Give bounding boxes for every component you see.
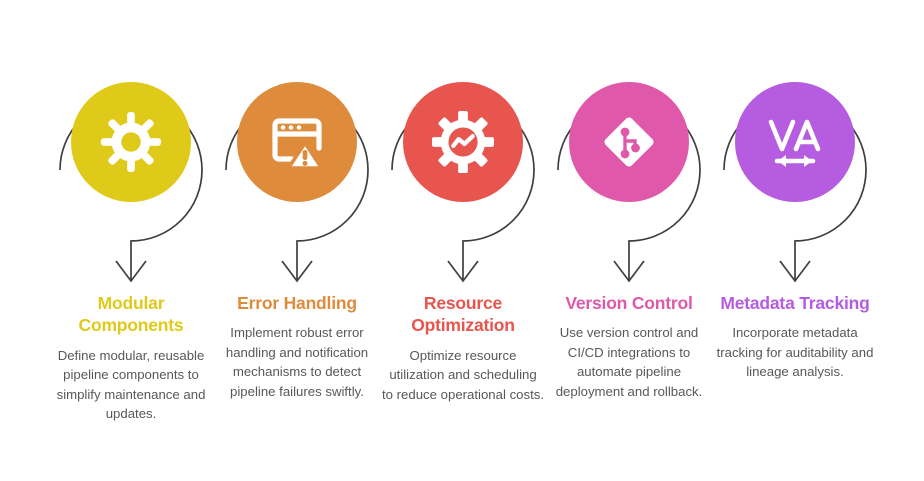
text-block-metadata-tracking: Metadata Tracking Incorporate metadata t… xyxy=(710,292,880,382)
icon-disc-resource-optimization xyxy=(403,82,523,202)
icon-disc-error-handling xyxy=(237,82,357,202)
node-modular-components xyxy=(48,58,214,288)
step-title: Error Handling xyxy=(212,292,382,314)
kerning-va-arrow-icon xyxy=(761,108,829,176)
node-resource-optimization xyxy=(380,58,546,288)
step-column-metadata-tracking: Metadata Tracking Incorporate metadata t… xyxy=(712,0,878,481)
step-column-resource-optimization: Resource Optimization Optimize resource … xyxy=(380,0,546,481)
step-title: Metadata Tracking xyxy=(710,292,880,314)
git-branch-diamond-icon xyxy=(595,108,663,176)
text-block-modular-components: Modular Components Define modular, reusa… xyxy=(46,292,216,423)
infographic-root: Modular Components Define modular, reusa… xyxy=(0,0,924,481)
browser-window-warning-icon xyxy=(263,108,331,176)
step-description: Define modular, reusable pipeline compon… xyxy=(46,346,216,424)
step-description: Use version control and CI/CD integratio… xyxy=(544,323,714,401)
icon-disc-modular-components xyxy=(71,82,191,202)
gear-chart-icon xyxy=(429,108,497,176)
step-description: Implement robust error handling and noti… xyxy=(212,323,382,401)
icon-disc-version-control xyxy=(569,82,689,202)
icon-disc-metadata-tracking xyxy=(735,82,855,202)
step-title: Resource Optimization xyxy=(378,292,548,337)
node-version-control xyxy=(546,58,712,288)
text-block-resource-optimization: Resource Optimization Optimize resource … xyxy=(378,292,548,404)
step-description: Incorporate metadata tracking for audita… xyxy=(710,323,880,381)
step-title: Modular Components xyxy=(46,292,216,337)
step-column-error-handling: Error Handling Implement robust error ha… xyxy=(214,0,380,481)
gear-icon xyxy=(97,108,165,176)
step-columns: Modular Components Define modular, reusa… xyxy=(0,0,924,481)
step-column-version-control: Version Control Use version control and … xyxy=(546,0,712,481)
node-error-handling xyxy=(214,58,380,288)
step-description: Optimize resource utilization and schedu… xyxy=(378,346,548,404)
step-column-modular-components: Modular Components Define modular, reusa… xyxy=(48,0,214,481)
step-title: Version Control xyxy=(544,292,714,314)
text-block-error-handling: Error Handling Implement robust error ha… xyxy=(212,292,382,401)
text-block-version-control: Version Control Use version control and … xyxy=(544,292,714,401)
node-metadata-tracking xyxy=(712,58,878,288)
